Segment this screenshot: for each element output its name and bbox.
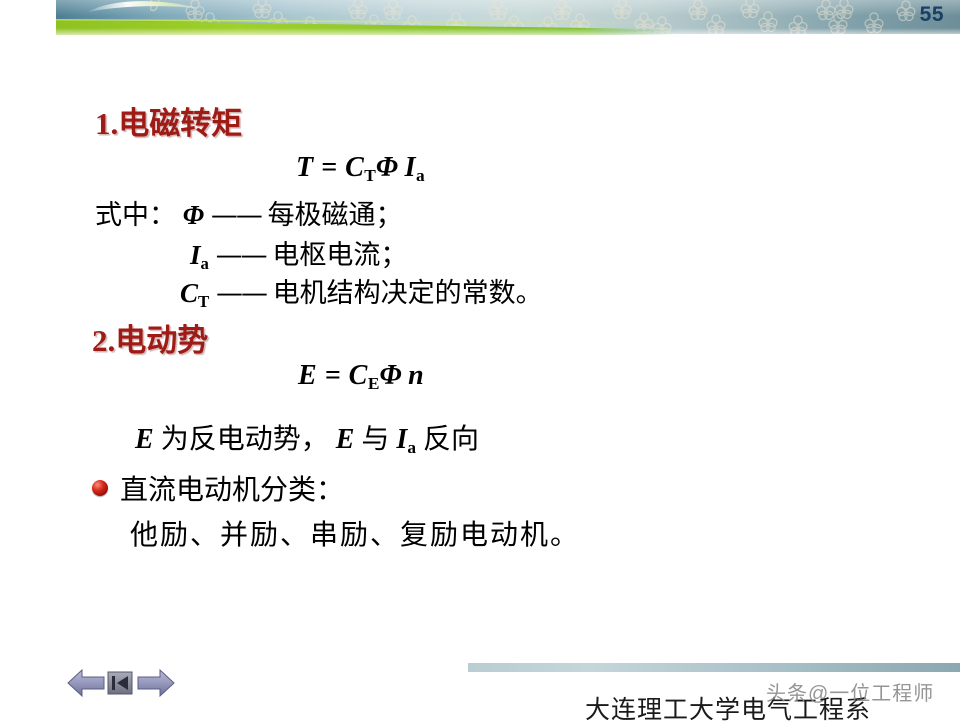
definition-symbol-i: Ia	[190, 240, 209, 270]
slide-navigation[interactable]	[66, 663, 176, 703]
note-I-base: I	[396, 424, 407, 455]
formula-C: C	[345, 152, 364, 183]
formula-I-subscript: a	[416, 166, 425, 185]
where-label: 式中：	[95, 200, 176, 230]
definition-symbol-c: CT	[180, 278, 209, 308]
formula-C-subscript: T	[364, 166, 376, 185]
formula-n: n	[408, 360, 424, 391]
definition-meaning-ia: 电枢电流；	[272, 240, 407, 270]
note-E-2: E	[336, 424, 355, 455]
next-arrow-icon[interactable]	[138, 670, 174, 696]
formula-CE: C	[349, 360, 368, 391]
slide-header-banner: 55	[0, 0, 960, 40]
note-I: Ia	[396, 424, 416, 455]
watermark-text: 头条@一位工程师	[766, 677, 934, 706]
section-1-heading: 1.电磁转矩	[95, 98, 242, 143]
note-text-3: 反向	[416, 424, 479, 455]
definition-symbol-phi: Φ	[183, 200, 204, 230]
section-1-number: 1.	[95, 106, 118, 141]
formula-phi: Φ	[376, 152, 399, 183]
definition-dash-1: ——	[216, 240, 266, 271]
torque-formula: T = CTΦ Ia	[296, 152, 425, 184]
footer-accent-bar	[468, 663, 960, 672]
bullet-title: 直流电动机分类：	[120, 468, 344, 508]
note-I-sub: a	[407, 438, 416, 457]
formula-phi-2: Φ	[379, 360, 402, 391]
formula-T: T	[296, 152, 314, 183]
note-E-1: E	[135, 424, 154, 455]
motor-classification-list: 他励、并励、串励、复励电动机。	[130, 513, 580, 553]
section-2-heading: 2.电动势	[92, 315, 208, 360]
prev-arrow-icon[interactable]	[68, 670, 104, 696]
first-slide-button-icon[interactable]	[108, 672, 132, 694]
section-2-title: 电动势	[115, 323, 208, 358]
formula-equals: =	[314, 152, 345, 183]
definition-meaning-phi: 每极磁通；	[268, 200, 403, 230]
emf-formula: E = CEΦ n	[298, 360, 424, 392]
where-clause-line-ia: Ia —— 电枢电流；	[190, 233, 407, 272]
definition-dash-2: ——	[216, 278, 266, 309]
section-2-number: 2.	[92, 323, 115, 358]
note-text-2: 与	[354, 424, 396, 455]
section-1-title: 电磁转矩	[118, 106, 242, 141]
white-swoosh-decoration	[86, 0, 206, 16]
definition-meaning-ct: 电机结构决定的常数。	[273, 278, 543, 308]
slide-content: 1.电磁转矩 T = CTΦ Ia 式中： Φ —— 每极磁通； Ia —— 电…	[0, 40, 960, 650]
where-clause-line-ct: CT —— 电机结构决定的常数。	[180, 271, 543, 310]
page-number: 55	[920, 3, 944, 27]
where-clause-line-phi: 式中： Φ —— 每极磁通；	[95, 193, 403, 232]
red-sphere-bullet-icon	[92, 480, 108, 496]
definition-dash-0: ——	[211, 200, 261, 231]
formula-equals-2: =	[317, 360, 348, 391]
definition-symbol-c-base: C	[180, 278, 198, 308]
formula-I: I	[405, 152, 416, 183]
definition-symbol-c-sub: T	[198, 292, 209, 311]
header-bottom-fade	[0, 28, 960, 40]
definition-symbol-i-base: I	[190, 240, 201, 270]
formula-CE-subscript: E	[368, 374, 380, 393]
formula-E: E	[298, 360, 317, 391]
emf-note-line: E 为反电动势， E 与 Ia 反向	[135, 417, 479, 457]
note-text-1: 为反电动势，	[154, 424, 336, 455]
